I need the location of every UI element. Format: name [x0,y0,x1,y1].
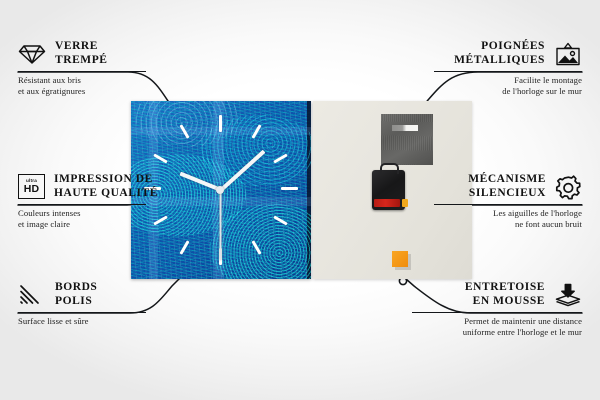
callout-divider [412,312,582,313]
callout-title: IMPRESSION DE HAUTE QUALITÉ [54,173,158,200]
callout-bords-polis: BORDS POLIS Surface lisse et sûre [18,281,158,327]
clock-movement [372,170,405,210]
battery [374,199,400,207]
tick-12 [219,115,222,132]
callout-entretoise-en-mousse: ENTRETOISE EN MOUSSE Permet de maintenir… [402,281,582,337]
callout-divider [18,71,146,72]
tick-7 [179,240,189,254]
callout-verre-trempe: VERRE TREMPÉ Résistant aux bris et aux é… [18,40,158,96]
gear-icon [555,174,582,200]
callout-header: POIGNÉES MÉTALLIQUES [422,40,582,67]
clock-hand-second [220,190,222,260]
callout-title: POIGNÉES MÉTALLIQUES [454,40,545,67]
tick-3 [281,187,298,190]
callout-desc-line1: Surface lisse et sûre [18,316,158,327]
foam-spacer [392,251,408,267]
callout-divider [434,71,582,72]
callout-desc-line1: Couleurs intenses [18,208,168,219]
callout-impression-haute-qualite: ultra HD IMPRESSION DE HAUTE QUALITÉ Cou… [18,173,168,229]
callout-header: BORDS POLIS [18,281,158,308]
infographic-canvas: VERRE TREMPÉ Résistant aux bris et aux é… [0,0,600,400]
callout-poignees-metalliques: POIGNÉES MÉTALLIQUES Facilite le montage… [422,40,582,96]
metal-hanger-plate [381,114,433,165]
ultra-hd-icon: ultra HD [18,174,45,199]
callout-divider [18,204,146,205]
callout-header: MÉCANISME SILENCIEUX [422,173,582,200]
callout-desc-line1: Résistant aux bris [18,75,158,86]
movement-hanger-loop [380,163,399,174]
callout-desc-line1: Les aiguilles de l'horloge [422,208,582,219]
callout-title: BORDS POLIS [55,281,97,308]
callout-header: ENTRETOISE EN MOUSSE [402,281,582,308]
callout-desc-line1: Facilite le montage [422,75,582,86]
callout-divider [18,312,146,313]
callout-desc-line2: uniforme entre l'horloge et le mur [402,327,582,338]
callout-desc-line2: et aux égratignures [18,86,158,97]
callout-title: VERRE TREMPÉ [55,40,108,67]
hanger-slot [392,125,418,131]
callout-desc-line2: ne font aucun bruit [422,219,582,230]
callout-desc-line2: et image claire [18,219,168,230]
callout-title: ENTRETOISE EN MOUSSE [465,281,545,308]
callout-desc-line1: Permet de maintenir une distance [402,316,582,327]
arrow-onto-pad-icon [554,283,582,307]
battery-terminal [402,199,408,207]
callout-header: VERRE TREMPÉ [18,40,158,67]
callout-header: ultra HD IMPRESSION DE HAUTE QUALITÉ [18,173,168,200]
picture-frame-hook-icon [554,42,582,66]
diamond-icon [18,43,46,65]
ultra-hd-main-text: HD [24,184,40,195]
callout-desc-line2: de l'horloge sur le mur [422,86,582,97]
callout-title: MÉCANISME SILENCIEUX [468,173,546,200]
callout-divider [434,204,582,205]
polished-edge-icon [18,284,46,306]
callout-mecanisme-silencieux: MÉCANISME SILENCIEUX Les aiguilles de l'… [422,173,582,229]
clock-hand-cap [216,186,224,194]
